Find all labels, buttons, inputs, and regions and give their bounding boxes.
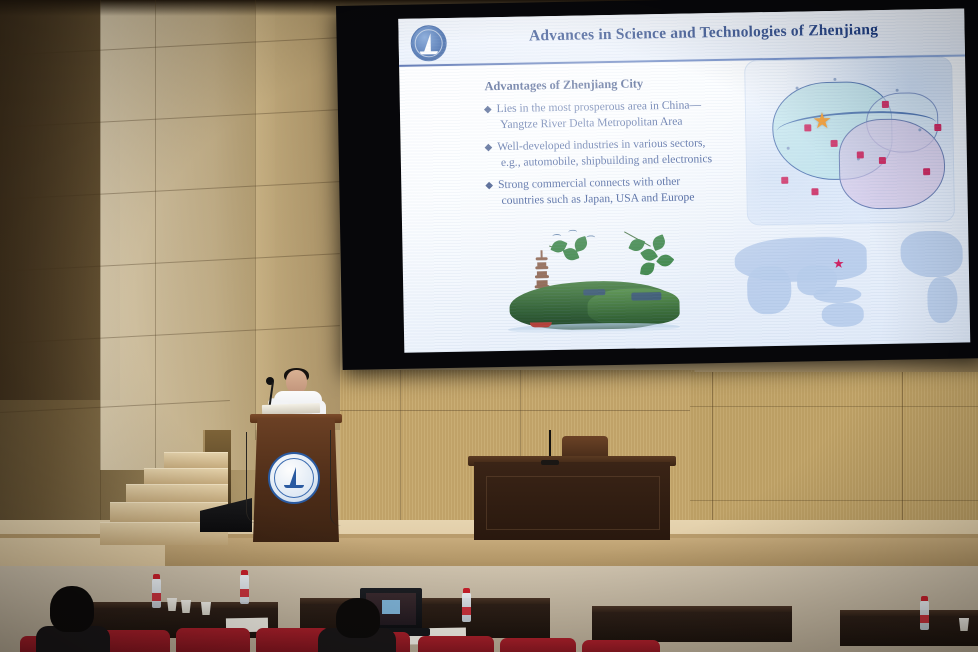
list-item: ◆Well-developed industries in various se… <box>484 134 753 170</box>
university-sailboat-emblem-icon <box>268 452 320 504</box>
bullet-line: Lies in the most prosperous area in Chin… <box>496 98 701 115</box>
auditorium-scene: Advances in Science and Technologies of … <box>0 0 978 652</box>
cable <box>246 432 259 524</box>
list-item: ◆Lies in the most prosperous area in Chi… <box>484 96 753 132</box>
diamond-bullet-icon: ◆ <box>484 104 492 115</box>
presentation-slide: Advances in Science and Technologies of … <box>398 8 970 352</box>
water-bottle <box>240 574 249 604</box>
world-map-pacific-centered: ★ <box>720 229 966 337</box>
bullet-line: Strong commercial connects with other <box>498 175 680 191</box>
attendee-left-head <box>50 586 94 632</box>
panel-seam-vertical <box>255 0 256 440</box>
zhenjiang-star-marker: ★ <box>812 110 832 132</box>
cable <box>330 430 341 526</box>
bullet-line: Well-developed industries in various sec… <box>497 136 705 153</box>
acoustic-wall-panels <box>690 372 978 520</box>
head-table-front-panel <box>486 476 660 530</box>
audience-seat[interactable] <box>176 628 250 652</box>
projection-screen[interactable]: Advances in Science and Technologies of … <box>336 0 978 370</box>
diamond-bullet-icon: ◆ <box>485 180 493 191</box>
panel-seam-vertical <box>155 0 156 470</box>
audience-seat[interactable] <box>418 636 494 652</box>
table-microphone-base <box>541 460 559 465</box>
china-star-marker: ★ <box>833 257 845 270</box>
audience-table <box>592 612 792 642</box>
laptop-window <box>382 600 400 614</box>
wall-mid-column <box>255 0 340 430</box>
water-bottle <box>462 592 471 622</box>
list-item: ◆Strong commercial connects with other c… <box>485 173 754 209</box>
audience-table <box>840 616 978 646</box>
water-bottle <box>152 578 161 608</box>
slide-bullet-list: ◆Lies in the most prosperous area in Chi… <box>484 96 754 215</box>
slide-section-heading: Advantages of Zhenjiang City <box>484 76 643 94</box>
wall-lit-column <box>100 0 275 470</box>
audience-seat[interactable] <box>500 638 576 652</box>
audience-seat[interactable] <box>582 640 660 652</box>
diamond-bullet-icon: ◆ <box>485 142 493 153</box>
panel-seam-vertical <box>100 0 101 520</box>
jinshan-pagoda-scenery-photo <box>490 226 692 342</box>
water-bottle <box>920 600 929 630</box>
attendee-center-head <box>336 598 380 638</box>
yangtze-delta-region-map: ★ <box>744 57 955 226</box>
